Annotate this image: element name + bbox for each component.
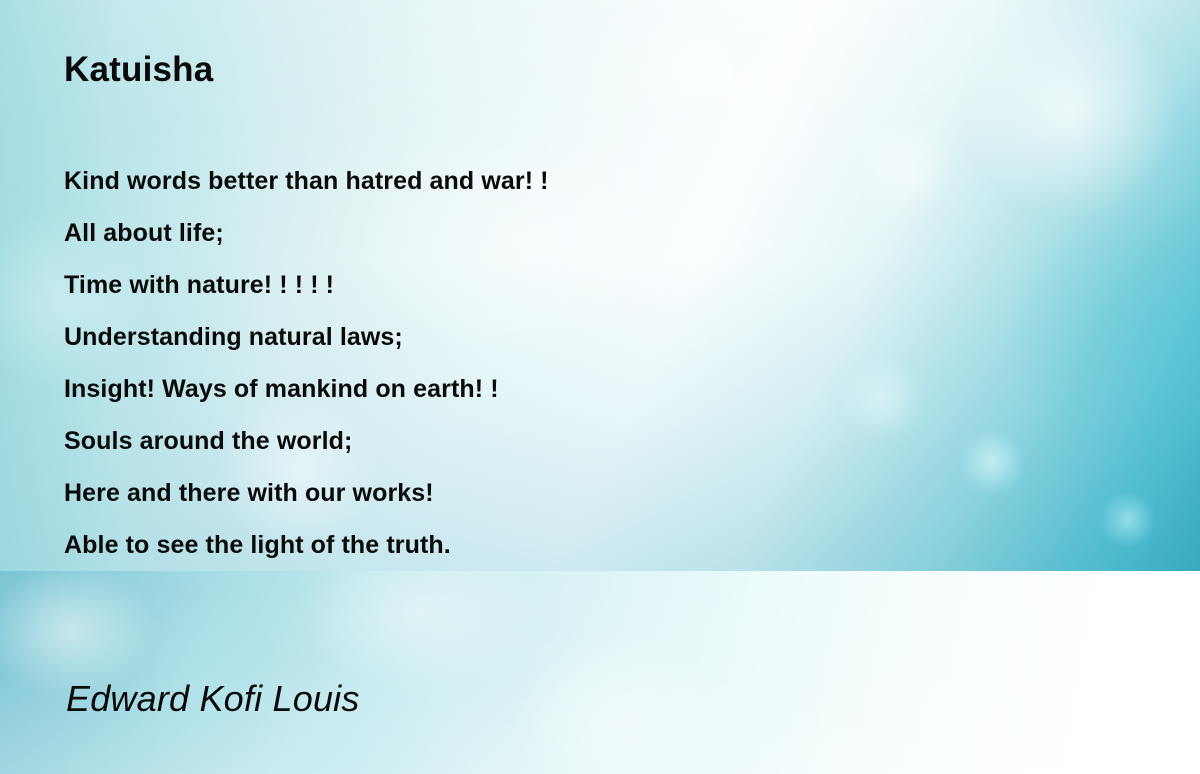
poem-line: Insight! Ways of mankind on earth! !	[64, 363, 1124, 415]
poem-title: Katuisha	[64, 50, 213, 90]
poem-content: Katuisha Kind words better than hatred a…	[0, 0, 1200, 571]
poem-image-card: Katuisha Kind words better than hatred a…	[0, 0, 1200, 774]
poem-line: Understanding natural laws;	[64, 311, 1124, 363]
poem-line: Able to see the light of the truth.	[64, 519, 1124, 571]
poem-line: Kind words better than hatred and war! !	[64, 155, 1124, 207]
poem-line: Here and there with our works!	[64, 467, 1124, 519]
poem-background-panel: Katuisha Kind words better than hatred a…	[0, 0, 1200, 571]
author-bokeh-blobs	[0, 571, 1200, 774]
poem-line: All about life;	[64, 207, 1124, 259]
author-background-panel	[0, 571, 1200, 774]
poem-line: Time with nature! ! ! ! !	[64, 259, 1124, 311]
poem-line: Souls around the world;	[64, 415, 1124, 467]
poem-author-name: Edward Kofi Louis	[66, 678, 360, 720]
poem-body: Kind words better than hatred and war! !…	[64, 155, 1124, 571]
